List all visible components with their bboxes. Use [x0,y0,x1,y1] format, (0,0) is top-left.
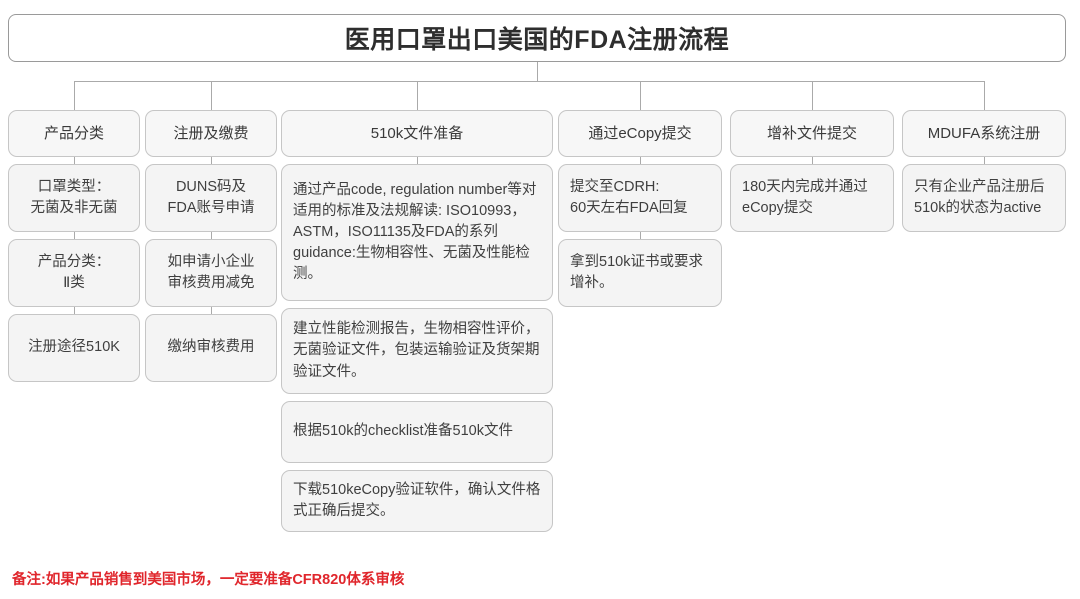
column-mdufa-registration: MDUFA系统注册 只有企业产品注册后510k的状态为active [902,110,1066,239]
connector-drop-col-5 [812,81,813,110]
page-title: 医用口罩出口美国的FDA注册流程 [345,20,729,56]
node-text: 如申请小企业审核费用减免 [157,252,265,294]
node-text: 下载510keCopy验证软件，确认文件格式正确后提交。 [293,480,541,522]
column-header-1[interactable]: 产品分类 [8,110,140,157]
node-3-4[interactable]: 下载510keCopy验证软件，确认文件格式正确后提交。 [281,470,553,532]
column-header-label: 注册及缴费 [157,123,265,145]
node-4-1[interactable]: 提交至CDRH:60天左右FDA回复 [558,164,722,232]
node-text: 180天内完成并通过eCopy提交 [742,177,882,219]
node-1-2[interactable]: 产品分类：Ⅱ类 [8,239,140,307]
node-6-1[interactable]: 只有企业产品注册后510k的状态为active [902,164,1066,232]
node-text: 提交至CDRH:60天左右FDA回复 [570,177,710,219]
column-header-4[interactable]: 通过eCopy提交 [558,110,722,157]
connector-drop-col-2 [211,81,212,110]
connector-title-stem [537,62,538,82]
node-text: 通过产品code, regulation number等对适用的标准及法规解读:… [293,180,541,285]
column-header-label: 通过eCopy提交 [570,123,710,145]
node-3-2[interactable]: 建立性能检测报告，生物相容性评价，无菌验证文件，包装运输验证及货架期验证文件。 [281,308,553,394]
node-text: DUNS码及FDA账号申请 [157,177,265,219]
connector-drop-col-4 [640,81,641,110]
node-text: 口罩类型：无菌及非无菌 [20,177,128,219]
connector-drop-col-3 [417,81,418,110]
node-text: 产品分类：Ⅱ类 [20,252,128,294]
node-2-3[interactable]: 缴纳审核费用 [145,314,277,382]
node-text: 拿到510k证书或要求增补。 [570,252,710,294]
column-ecopy-submission: 通过eCopy提交 提交至CDRH:60天左右FDA回复 拿到510k证书或要求… [558,110,722,314]
node-text: 根据510k的checklist准备510k文件 [293,421,541,442]
node-text: 建立性能检测报告，生物相容性评价，无菌验证文件，包装运输验证及货架期验证文件。 [293,319,541,382]
node-1-1[interactable]: 口罩类型：无菌及非无菌 [8,164,140,232]
node-3-3[interactable]: 根据510k的checklist准备510k文件 [281,401,553,463]
node-4-2[interactable]: 拿到510k证书或要求增补。 [558,239,722,307]
column-header-5[interactable]: 增补文件提交 [730,110,894,157]
node-2-2[interactable]: 如申请小企业审核费用减免 [145,239,277,307]
node-3-1[interactable]: 通过产品code, regulation number等对适用的标准及法规解读:… [281,164,553,301]
column-header-label: 产品分类 [20,123,128,145]
node-5-1[interactable]: 180天内完成并通过eCopy提交 [730,164,894,232]
column-header-label: 增补文件提交 [742,123,882,145]
node-2-1[interactable]: DUNS码及FDA账号申请 [145,164,277,232]
footer-note: 备注:如果产品销售到美国市场，一定要准备CFR820体系审核 [12,568,404,589]
column-registration-payment: 注册及缴费 DUNS码及FDA账号申请 如申请小企业审核费用减免 缴纳审核费用 [145,110,277,389]
column-header-2[interactable]: 注册及缴费 [145,110,277,157]
column-510k-document-prep: 510k文件准备 通过产品code, regulation number等对适用… [281,110,553,539]
flowchart-title-box: 医用口罩出口美国的FDA注册流程 [8,14,1066,62]
node-text: 只有企业产品注册后510k的状态为active [914,177,1054,219]
node-text: 注册途径510K [20,337,128,358]
node-1-3[interactable]: 注册途径510K [8,314,140,382]
column-header-6[interactable]: MDUFA系统注册 [902,110,1066,157]
column-product-classification: 产品分类 口罩类型：无菌及非无菌 产品分类：Ⅱ类 注册途径510K [8,110,140,389]
column-header-3[interactable]: 510k文件准备 [281,110,553,157]
column-header-label: MDUFA系统注册 [914,123,1054,145]
connector-drop-col-6 [984,81,985,110]
column-supplementary-documents: 增补文件提交 180天内完成并通过eCopy提交 [730,110,894,239]
connector-drop-col-1 [74,81,75,110]
node-text: 缴纳审核费用 [157,337,265,358]
column-header-label: 510k文件准备 [293,123,541,145]
